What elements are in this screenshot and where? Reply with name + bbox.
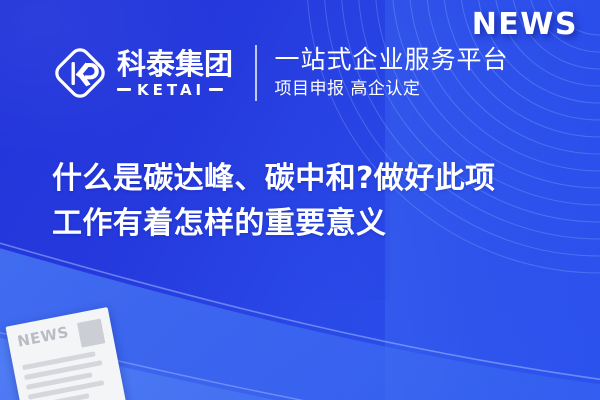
brand-name-cn: 科泰集团 (117, 49, 233, 79)
news-banner: NEWS 科泰集团 KETAI (0, 0, 600, 400)
ketai-diamond-logo-icon (52, 45, 108, 101)
brand-name-en: KETAI (131, 82, 209, 98)
banner-header: 科泰集团 KETAI 一站式企业服务平台 项目申报 高企认定 (52, 40, 509, 106)
newspaper-title: NEWS (16, 324, 70, 350)
tagline-primary: 一站式企业服务平台 (275, 45, 509, 75)
brand-name-en-row: KETAI (117, 82, 233, 98)
header-divider (255, 45, 257, 101)
wordmark-dash-left (117, 88, 131, 91)
brand-wordmark: 科泰集团 KETAI (117, 49, 233, 98)
wordmark-dash-right (209, 88, 223, 91)
tagline-secondary: 项目申报 高企认定 (275, 77, 509, 101)
newspaper-thumbnail (77, 319, 105, 348)
page-title: 什么是碳达峰、碳中和?做好此项工作有着怎样的重要意义 (52, 156, 522, 246)
brand-logo[interactable]: 科泰集团 KETAI (52, 43, 233, 103)
news-badge-label: NEWS (472, 7, 578, 42)
brand-tagline: 一站式企业服务平台 项目申报 高企认定 (275, 45, 509, 101)
newspaper-text-lines (22, 349, 115, 400)
